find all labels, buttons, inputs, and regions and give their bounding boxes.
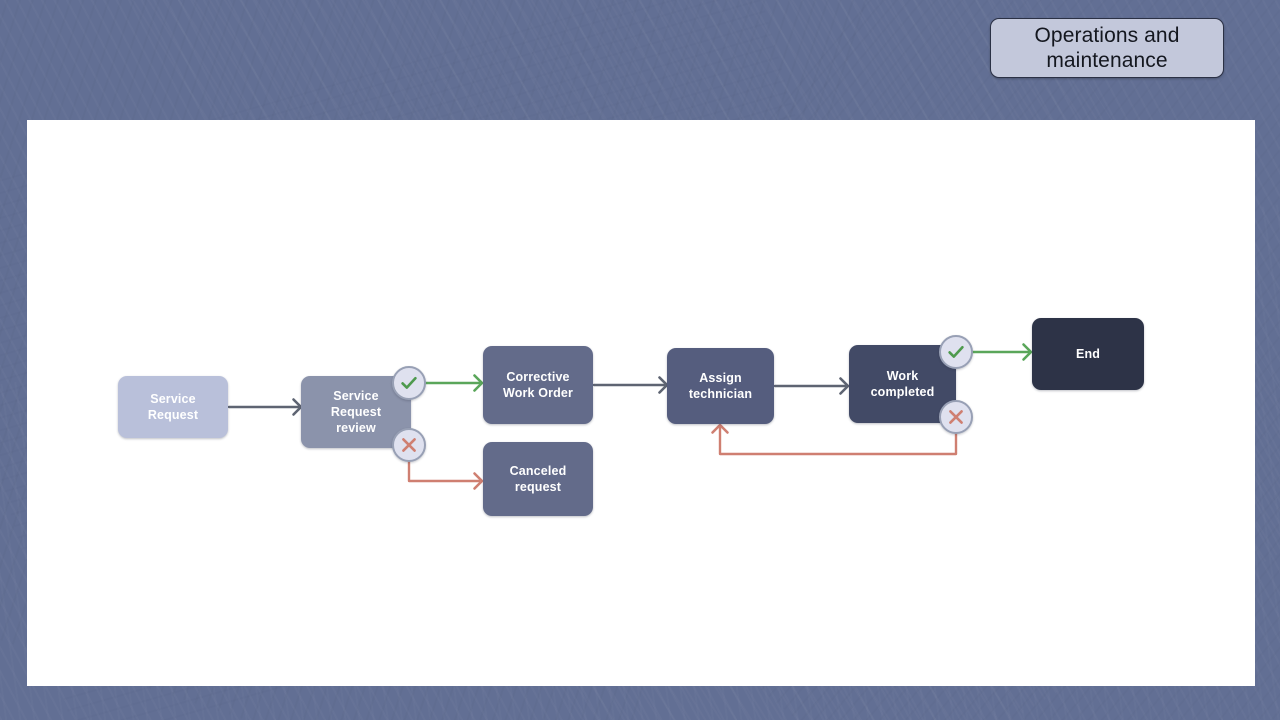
node-label: Canceled request	[503, 463, 574, 495]
node-label: Service Request	[141, 391, 205, 423]
slide-title: Operations andmaintenance	[1035, 23, 1180, 73]
check-icon	[399, 373, 419, 393]
node-canceled-request[interactable]: Canceled request	[483, 442, 593, 516]
workflow-diagram: Service RequestService Request reviewCor…	[27, 120, 1255, 686]
node-label: Corrective Work Order	[496, 369, 580, 401]
node-corrective-work-order[interactable]: Corrective Work Order	[483, 346, 593, 424]
slide-canvas: Service RequestService Request reviewCor…	[27, 120, 1255, 686]
slide-title-chip: Operations andmaintenance	[990, 18, 1224, 78]
node-service-request[interactable]: Service Request	[118, 376, 228, 438]
badge-work-rejected[interactable]	[939, 400, 973, 434]
badge-review-rejected[interactable]	[392, 428, 426, 462]
cross-icon	[946, 407, 966, 427]
check-icon	[946, 342, 966, 362]
slide-title-line-1: Operations and	[1035, 24, 1180, 47]
cross-icon	[399, 435, 419, 455]
badge-work-approved[interactable]	[939, 335, 973, 369]
node-label: Work completed	[864, 368, 942, 400]
slide-title-line-2: maintenance	[1046, 49, 1167, 72]
node-label: Assign technician	[682, 370, 759, 402]
node-assign-technician[interactable]: Assign technician	[667, 348, 774, 424]
node-label: End	[1069, 346, 1107, 362]
node-end[interactable]: End	[1032, 318, 1144, 390]
node-label: Service Request review	[324, 388, 388, 436]
badge-review-approved[interactable]	[392, 366, 426, 400]
